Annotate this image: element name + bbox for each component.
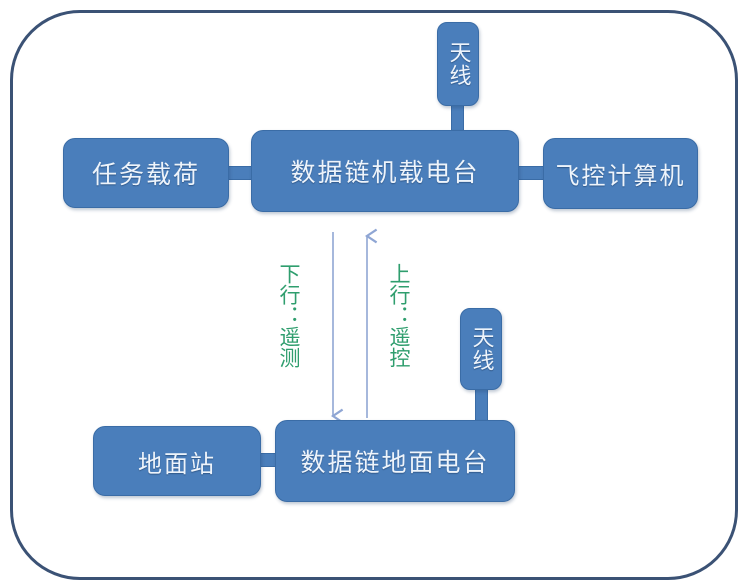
node-flight-control-computer[interactable]: 飞控计算机 <box>543 138 698 209</box>
node-airborne-datalink-radio-label: 数据链机载电台 <box>290 153 479 189</box>
node-ground-datalink-radio-label: 数据链地面电台 <box>300 443 489 479</box>
node-mission-payload-label: 任务载荷 <box>92 155 200 191</box>
connector-payload-to-airborne-radio <box>228 166 252 180</box>
antenna-ground-label: 天线 <box>469 326 492 372</box>
antenna-airborne-label: 天线 <box>446 41 469 87</box>
node-mission-payload[interactable]: 任务载荷 <box>63 138 229 208</box>
connector-antenna-ground-to-ground-radio <box>475 388 488 424</box>
node-flight-control-computer-label: 飞控计算机 <box>556 156 686 191</box>
connector-airborne-radio-to-flight-computer <box>518 166 544 180</box>
node-ground-datalink-radio[interactable]: 数据链地面电台 <box>275 420 515 502</box>
antenna-ground-node[interactable]: 天线 <box>460 308 502 390</box>
node-ground-station[interactable]: 地面站 <box>93 426 261 496</box>
downlink-label: 下行：遥测 <box>275 243 301 388</box>
antenna-airborne-node[interactable]: 天线 <box>437 22 479 106</box>
node-ground-station-label: 地面站 <box>138 444 216 479</box>
uplink-label: 上行：遥控 <box>385 243 411 388</box>
diagram-canvas: 天线 任务载荷 数据链机载电台 飞控计算机 下行：遥测 上行：遥控 天线 地面站… <box>0 0 750 500</box>
node-airborne-datalink-radio[interactable]: 数据链机载电台 <box>251 130 519 212</box>
